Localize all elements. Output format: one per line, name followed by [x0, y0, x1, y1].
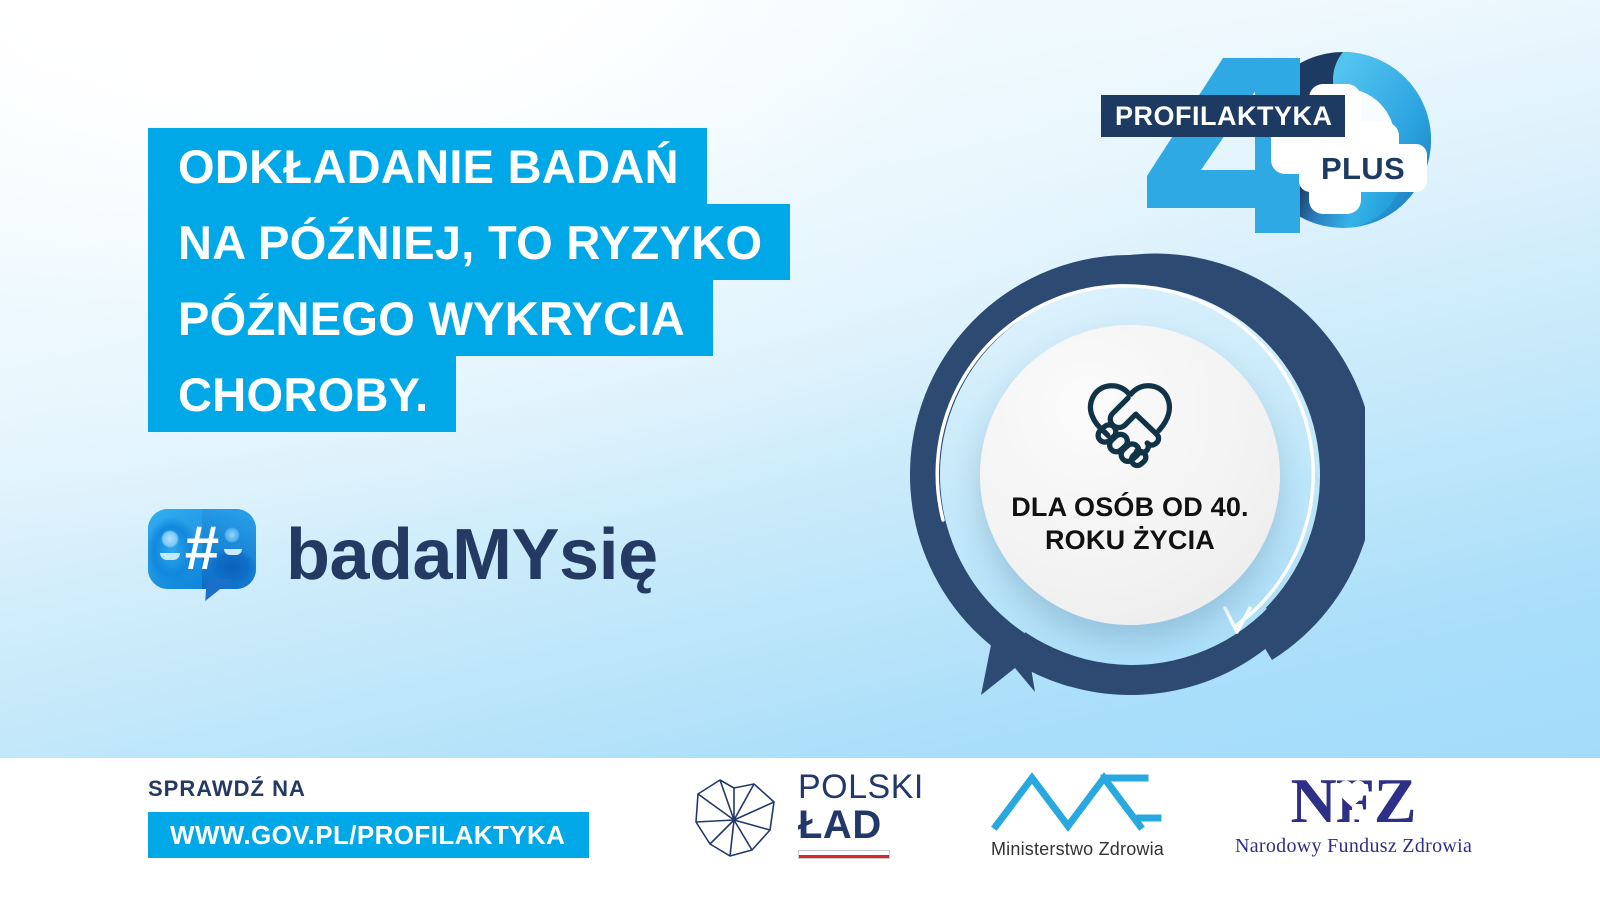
- headline-line-4: CHOROBY.: [148, 356, 456, 432]
- cta-block: SPRAWDŹ NA WWW.GOV.PL/PROFILAKTYKA: [148, 778, 589, 858]
- age-badge-text: DLA OSÓB OD 40. ROKU ŻYCIA: [1011, 491, 1249, 557]
- hashtag-glyph: #: [148, 509, 256, 589]
- badamysie-wordmark: badaMYsię: [286, 519, 658, 591]
- partner-logo-nfz[interactable]: NFZ Narodowy Fundusz Zdrowia: [1235, 770, 1472, 880]
- polish-flag-icon: [798, 850, 890, 859]
- partner-logo-ministerstwo-zdrowia[interactable]: Ministerstwo Zdrowia: [990, 770, 1165, 880]
- age-badge-text-line-2: ROKU ŻYCIA: [1011, 524, 1249, 557]
- age-badge-text-line-1: DLA OSÓB OD 40.: [1011, 491, 1249, 524]
- profilaktyka-label: PROFILAKTYKA: [1101, 95, 1345, 137]
- plus-label: PLUS: [1299, 144, 1427, 192]
- headline-line-1: ODKŁADANIE BADAŃ: [148, 128, 707, 204]
- headline: ODKŁADANIE BADAŃ NA PÓŹNIEJ, TO RYZYKO P…: [148, 128, 908, 432]
- partner-logo-polski-lad[interactable]: POLSKI ŁAD: [690, 770, 924, 880]
- handshake-heart-icon: [1071, 373, 1189, 469]
- age-badge-disc: DLA OSÓB OD 40. ROKU ŻYCIA: [980, 325, 1280, 625]
- headline-line-3: PÓŹNEGO WYKRYCIA: [148, 280, 713, 356]
- campaign-banner: ODKŁADANIE BADAŃ NA PÓŹNIEJ, TO RYZYKO P…: [0, 0, 1600, 900]
- polski-lad-line-1: POLSKI: [798, 770, 924, 804]
- cta-url-button[interactable]: WWW.GOV.PL/PROFILAKTYKA: [148, 812, 589, 858]
- mz-zigzag-icon: [990, 770, 1165, 832]
- nfz-heart-icon: NFZ: [1266, 770, 1441, 832]
- hashtag-faces-icon: #: [148, 509, 256, 601]
- age-badge: DLA OSÓB OD 40. ROKU ŻYCIA: [895, 240, 1365, 710]
- mz-caption: Ministerstwo Zdrowia: [991, 840, 1164, 858]
- nfz-caption: Narodowy Fundusz Zdrowia: [1235, 836, 1472, 856]
- poland-map-icon: [690, 772, 782, 858]
- partner-logo-row: POLSKI ŁAD Minis: [690, 770, 1480, 880]
- headline-line-2: NA PÓŹNIEJ, TO RYZYKO: [148, 204, 790, 280]
- polski-lad-line-2: ŁAD: [798, 804, 882, 846]
- badamysie-logo[interactable]: # badaMYsię: [148, 509, 658, 601]
- cta-label: SPRAWDŹ NA: [148, 778, 589, 800]
- profilaktyka-40-plus-logo[interactable]: PROFILAKTYKA PLUS: [1095, 48, 1465, 233]
